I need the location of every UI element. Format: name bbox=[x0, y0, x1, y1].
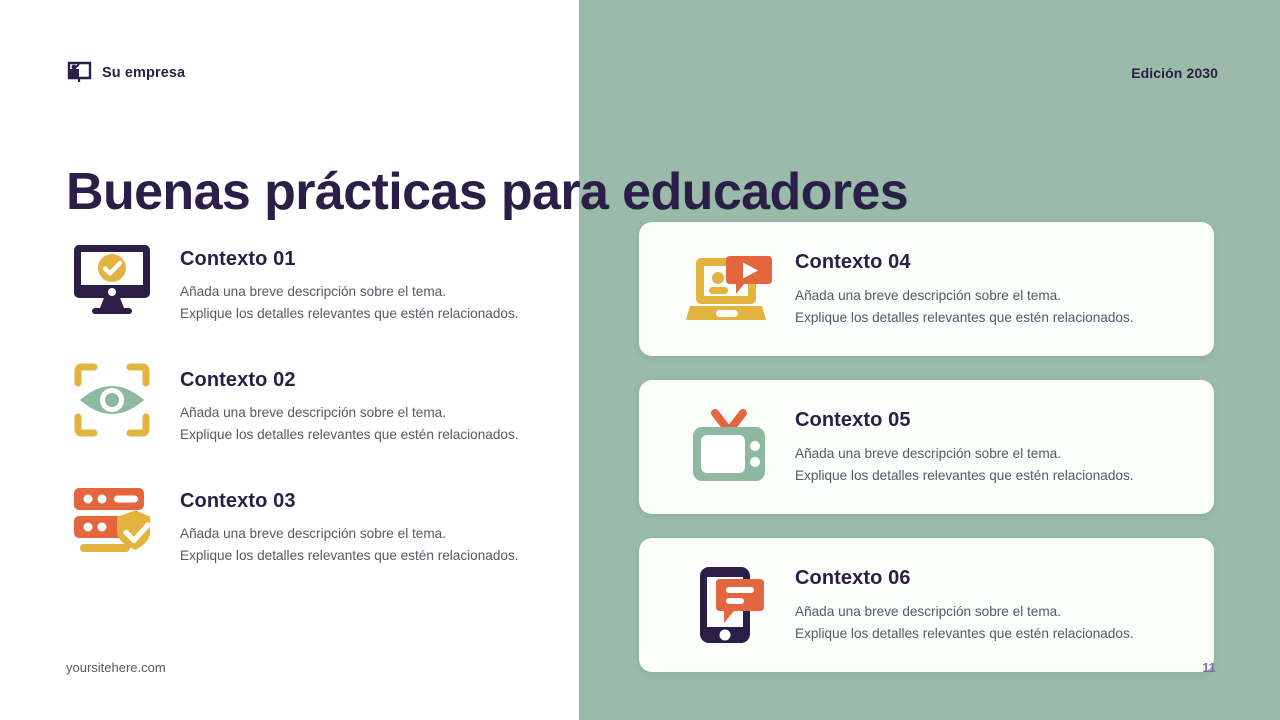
list-item-desc-line1: Añada una breve descripción sobre el tem… bbox=[795, 285, 1134, 307]
list-item-desc-line2: Explique los detalles relevantes que est… bbox=[795, 465, 1134, 487]
list-item-title: Contexto 03 bbox=[180, 490, 519, 513]
list-item-text: Contexto 06 Añada una breve descripción … bbox=[795, 565, 1134, 645]
list-item-title: Contexto 01 bbox=[180, 248, 519, 271]
list-item[interactable]: Contexto 05 Añada una breve descripción … bbox=[639, 380, 1214, 514]
list-item-desc-line2: Explique los detalles relevantes que est… bbox=[795, 307, 1134, 329]
list-item-title: Contexto 04 bbox=[795, 251, 1134, 274]
slide-canvas: Su empresa Edición 2030 Buenas prácticas… bbox=[0, 0, 1280, 720]
list-item[interactable]: Contexto 06 Añada una breve descripción … bbox=[639, 538, 1214, 672]
list-item-desc-line2: Explique los detalles relevantes que est… bbox=[180, 545, 519, 567]
site-url-label[interactable]: yoursitehere.com bbox=[66, 660, 166, 675]
list-item-text: Contexto 01 Añada una breve descripción … bbox=[180, 240, 519, 325]
list-item-desc-line1: Añada una breve descripción sobre el tem… bbox=[180, 402, 519, 424]
server-shield-check-icon bbox=[66, 482, 158, 560]
presenter-board-icon bbox=[66, 60, 92, 86]
monitor-check-icon bbox=[66, 240, 158, 318]
retro-television-icon bbox=[683, 407, 775, 487]
edition-label: Edición 2030 bbox=[1131, 65, 1218, 81]
list-item-desc-line1: Añada una breve descripción sobre el tem… bbox=[795, 601, 1134, 623]
list-item-text: Contexto 04 Añada una breve descripción … bbox=[795, 249, 1134, 329]
list-item[interactable]: Contexto 01 Añada una breve descripción … bbox=[66, 240, 566, 325]
list-item-title: Contexto 05 bbox=[795, 409, 1134, 432]
list-item[interactable]: Contexto 04 Añada una breve descripción … bbox=[639, 222, 1214, 356]
list-item-desc-line1: Añada una breve descripción sobre el tem… bbox=[795, 443, 1134, 465]
left-feature-list: Contexto 01 Añada una breve descripción … bbox=[66, 240, 566, 603]
list-item[interactable]: Contexto 03 Añada una breve descripción … bbox=[66, 482, 566, 567]
right-card-list: Contexto 04 Añada una breve descripción … bbox=[639, 222, 1214, 696]
list-item-desc-line2: Explique los detalles relevantes que est… bbox=[180, 424, 519, 446]
list-item-desc-line1: Añada una breve descripción sobre el tem… bbox=[180, 523, 519, 545]
list-item-text: Contexto 02 Añada una breve descripción … bbox=[180, 361, 519, 446]
eye-focus-frame-icon bbox=[66, 361, 158, 439]
brand-name-label: Su empresa bbox=[102, 65, 185, 81]
list-item-title: Contexto 06 bbox=[795, 567, 1134, 590]
page-title: Buenas prácticas para educadores bbox=[66, 163, 1046, 221]
list-item[interactable]: Contexto 02 Añada una breve descripción … bbox=[66, 361, 566, 446]
list-item-title: Contexto 02 bbox=[180, 369, 519, 392]
list-item-text: Contexto 03 Añada una breve descripción … bbox=[180, 482, 519, 567]
brand-logo-group[interactable]: Su empresa bbox=[66, 60, 185, 86]
page-number-label: 11 bbox=[1202, 660, 1216, 675]
laptop-video-chat-icon bbox=[683, 249, 775, 329]
list-item-desc-line2: Explique los detalles relevantes que est… bbox=[795, 623, 1134, 645]
list-item-desc-line1: Añada una breve descripción sobre el tem… bbox=[180, 281, 519, 303]
smartphone-message-icon bbox=[683, 565, 775, 645]
list-item-text: Contexto 05 Añada una breve descripción … bbox=[795, 407, 1134, 487]
list-item-desc-line2: Explique los detalles relevantes que est… bbox=[180, 303, 519, 325]
